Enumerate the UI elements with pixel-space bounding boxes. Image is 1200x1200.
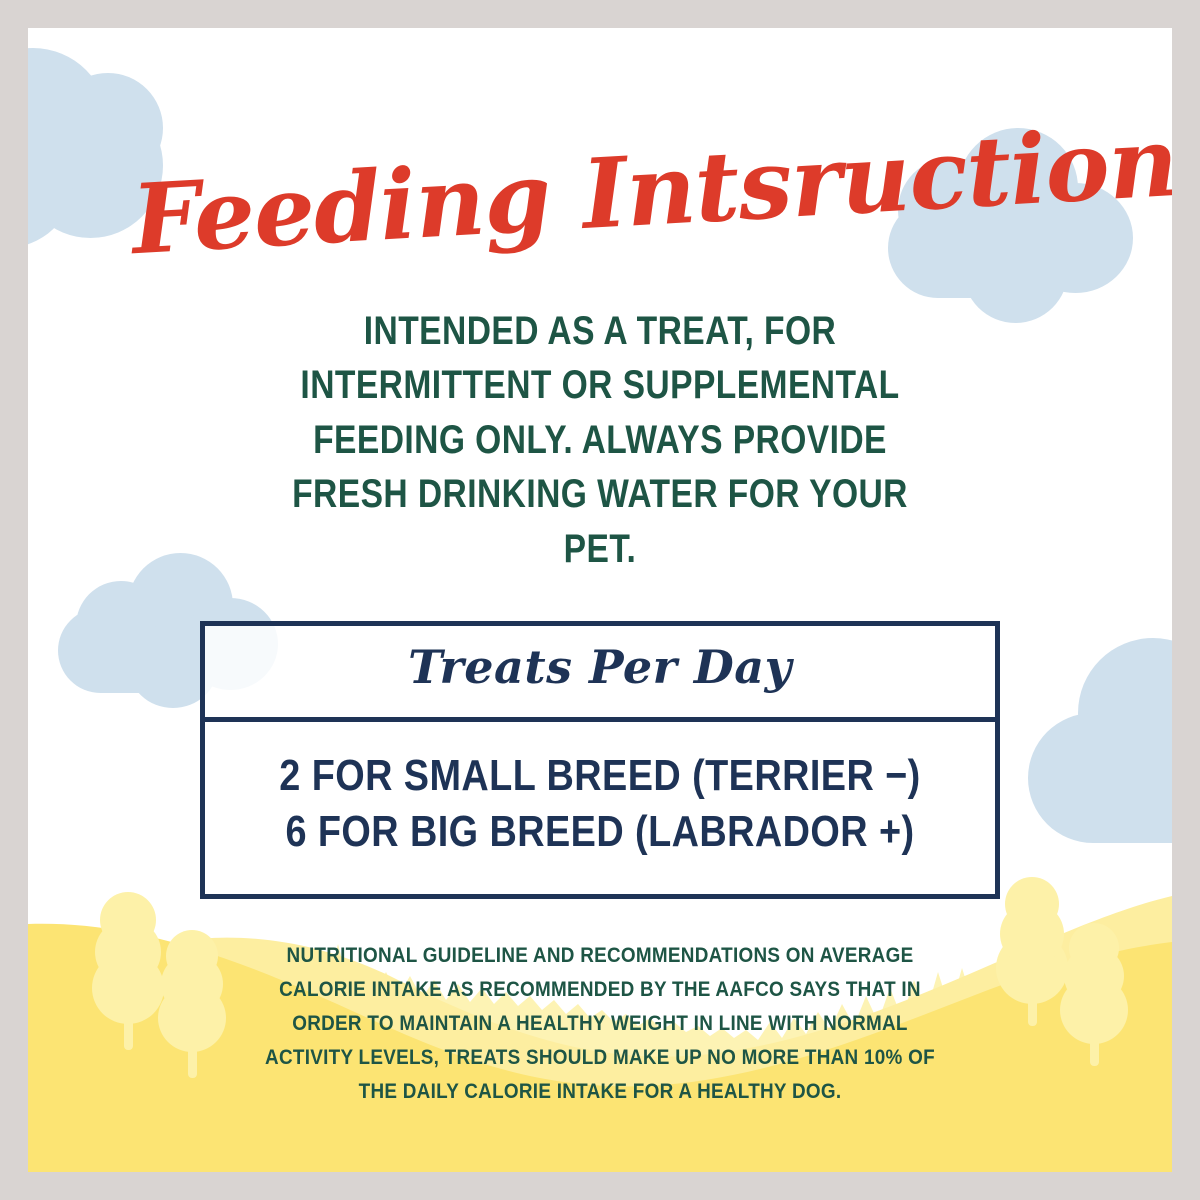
treats-per-day-box: Treats Per Day 2 for small breed (Terrie…	[200, 621, 1000, 899]
treats-box-body: 2 for small breed (Terrier −) 6 for big …	[205, 722, 995, 895]
treats-box-header: Treats Per Day	[205, 626, 995, 722]
label-frame: Feeding Intsructions Intended as a treat…	[0, 0, 1200, 1200]
page-title: Feeding Intsructions	[123, 28, 1077, 268]
fineprint-paragraph: Nutritional guideline and recommendation…	[258, 939, 942, 1109]
label-canvas: Feeding Intsructions Intended as a treat…	[28, 28, 1172, 1172]
intro-paragraph: Intended as a treat, for intermittent or…	[281, 304, 919, 576]
treats-line-small-breed: 2 for small breed (Terrier −)	[269, 748, 931, 804]
label-content: Feeding Intsructions Intended as a treat…	[28, 28, 1172, 1172]
treats-line-big-breed: 6 for big breed (Labrador +)	[269, 804, 931, 860]
treats-box-header-label: Treats Per Day	[215, 642, 985, 693]
